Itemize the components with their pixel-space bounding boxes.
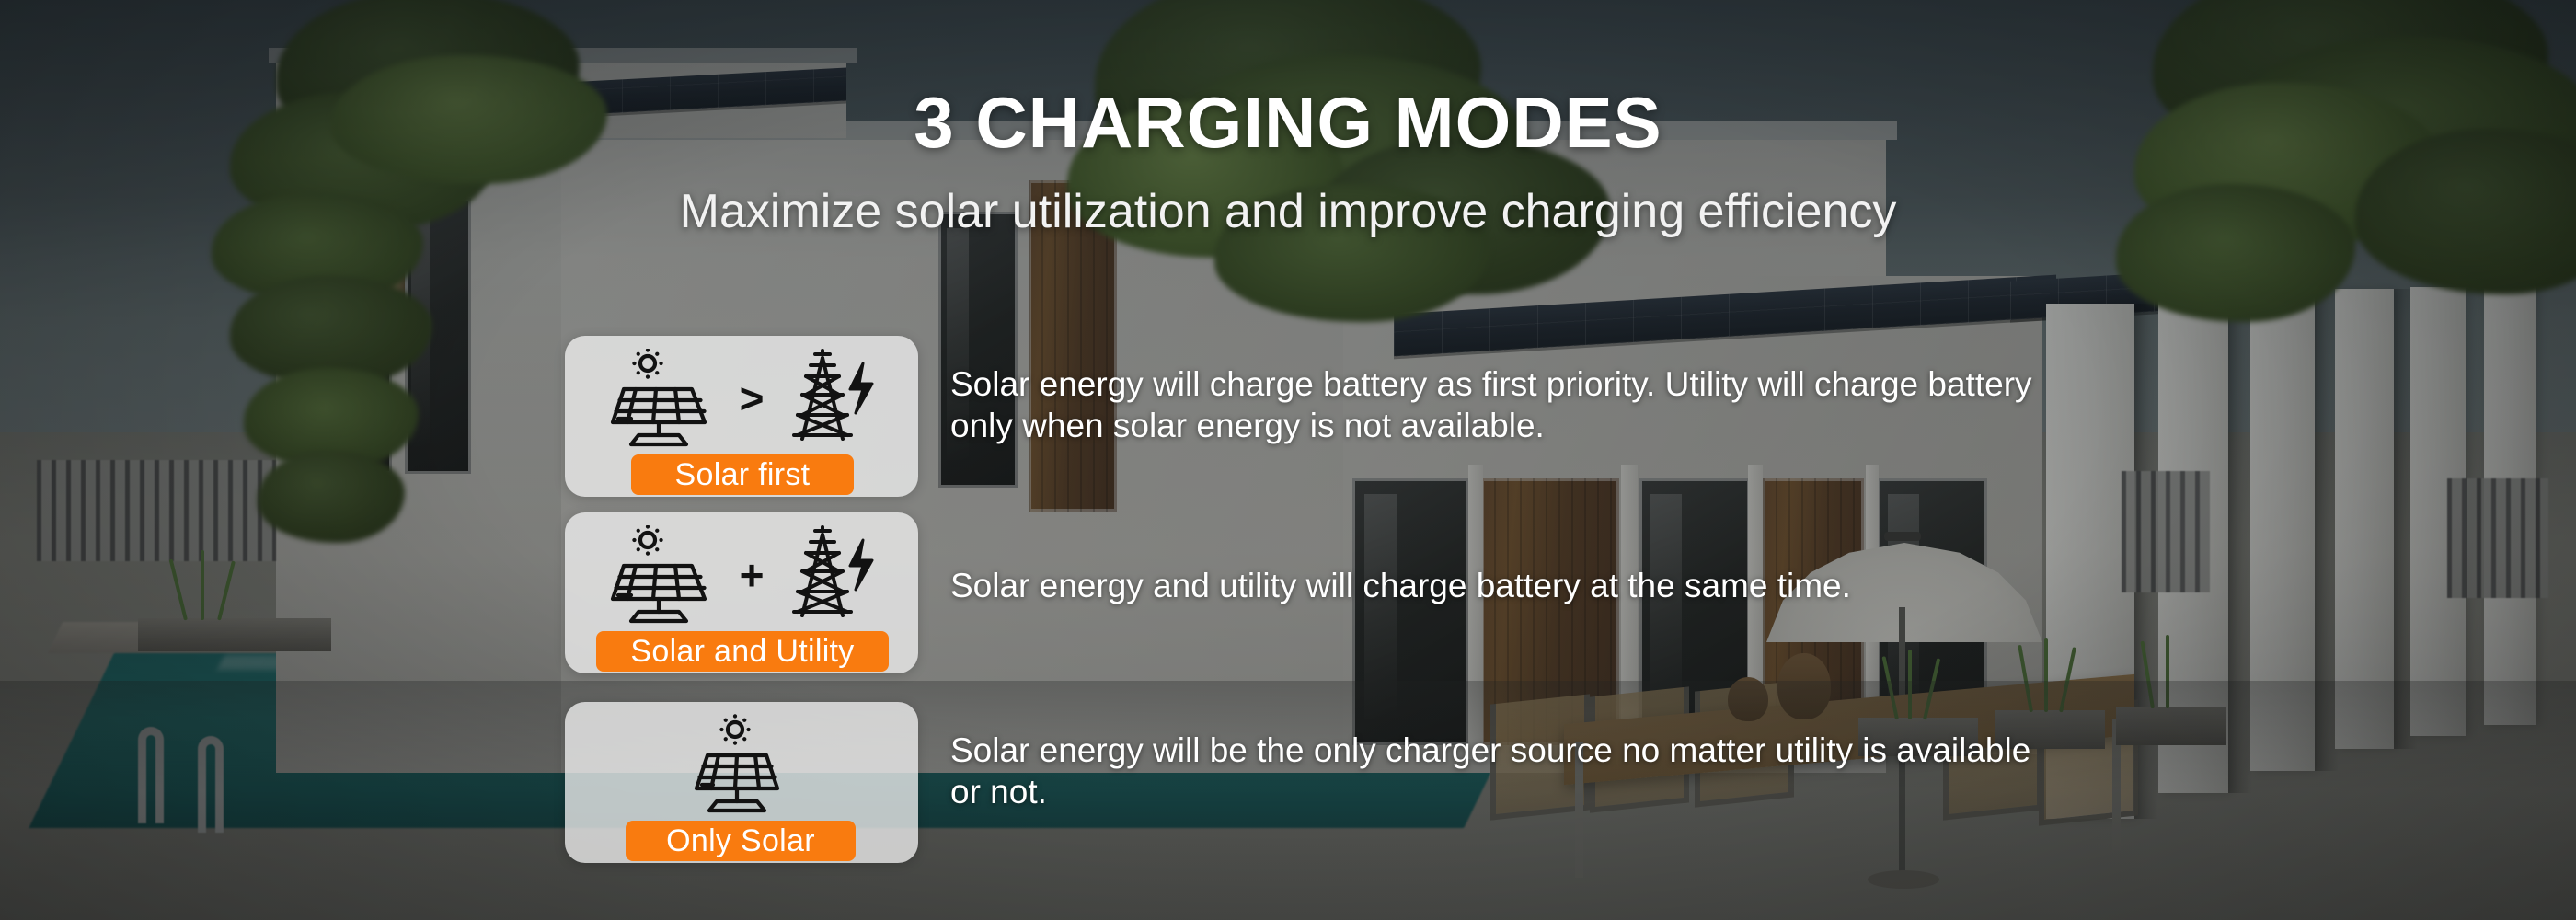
mode-badge-only-solar[interactable]: Only Solar xyxy=(626,821,856,861)
mode-badge-solar-and-utility[interactable]: Solar and Utility xyxy=(596,631,889,672)
banner-content: 3 CHARGING MODES Maximize solar utilizat… xyxy=(0,0,2576,920)
solar-panel-icon xyxy=(605,349,721,448)
mode-description-solar-first: Solar energy will charge battery as firs… xyxy=(950,363,2064,446)
utility-tower-icon xyxy=(782,525,878,625)
mode-card-solar-and-utility[interactable]: + Solar and U xyxy=(565,512,918,673)
mode-icon-strip: + xyxy=(565,520,918,630)
solar-panel-icon xyxy=(605,525,721,625)
solar-panel-icon xyxy=(684,713,799,816)
mode-description-solar-and-utility: Solar energy and utility will charge bat… xyxy=(950,565,2064,606)
mode-badge-solar-first[interactable]: Solar first xyxy=(631,454,854,495)
mode-description-only-solar: Solar energy will be the only charger so… xyxy=(950,730,2064,812)
mode-card-solar-first[interactable]: > Solar first xyxy=(565,336,918,497)
plus-icon: + xyxy=(740,554,765,596)
page-subtitle: Maximize solar utilization and improve c… xyxy=(0,184,2576,239)
page-title: 3 CHARGING MODES xyxy=(0,81,2576,165)
mode-icon-strip: > xyxy=(565,343,918,454)
greater-than-icon: > xyxy=(740,377,765,420)
utility-tower-icon xyxy=(782,349,878,448)
mode-icon-strip xyxy=(565,709,918,820)
mode-card-only-solar[interactable]: Only Solar xyxy=(565,702,918,863)
banner-root: 3 CHARGING MODES Maximize solar utilizat… xyxy=(0,0,2576,920)
